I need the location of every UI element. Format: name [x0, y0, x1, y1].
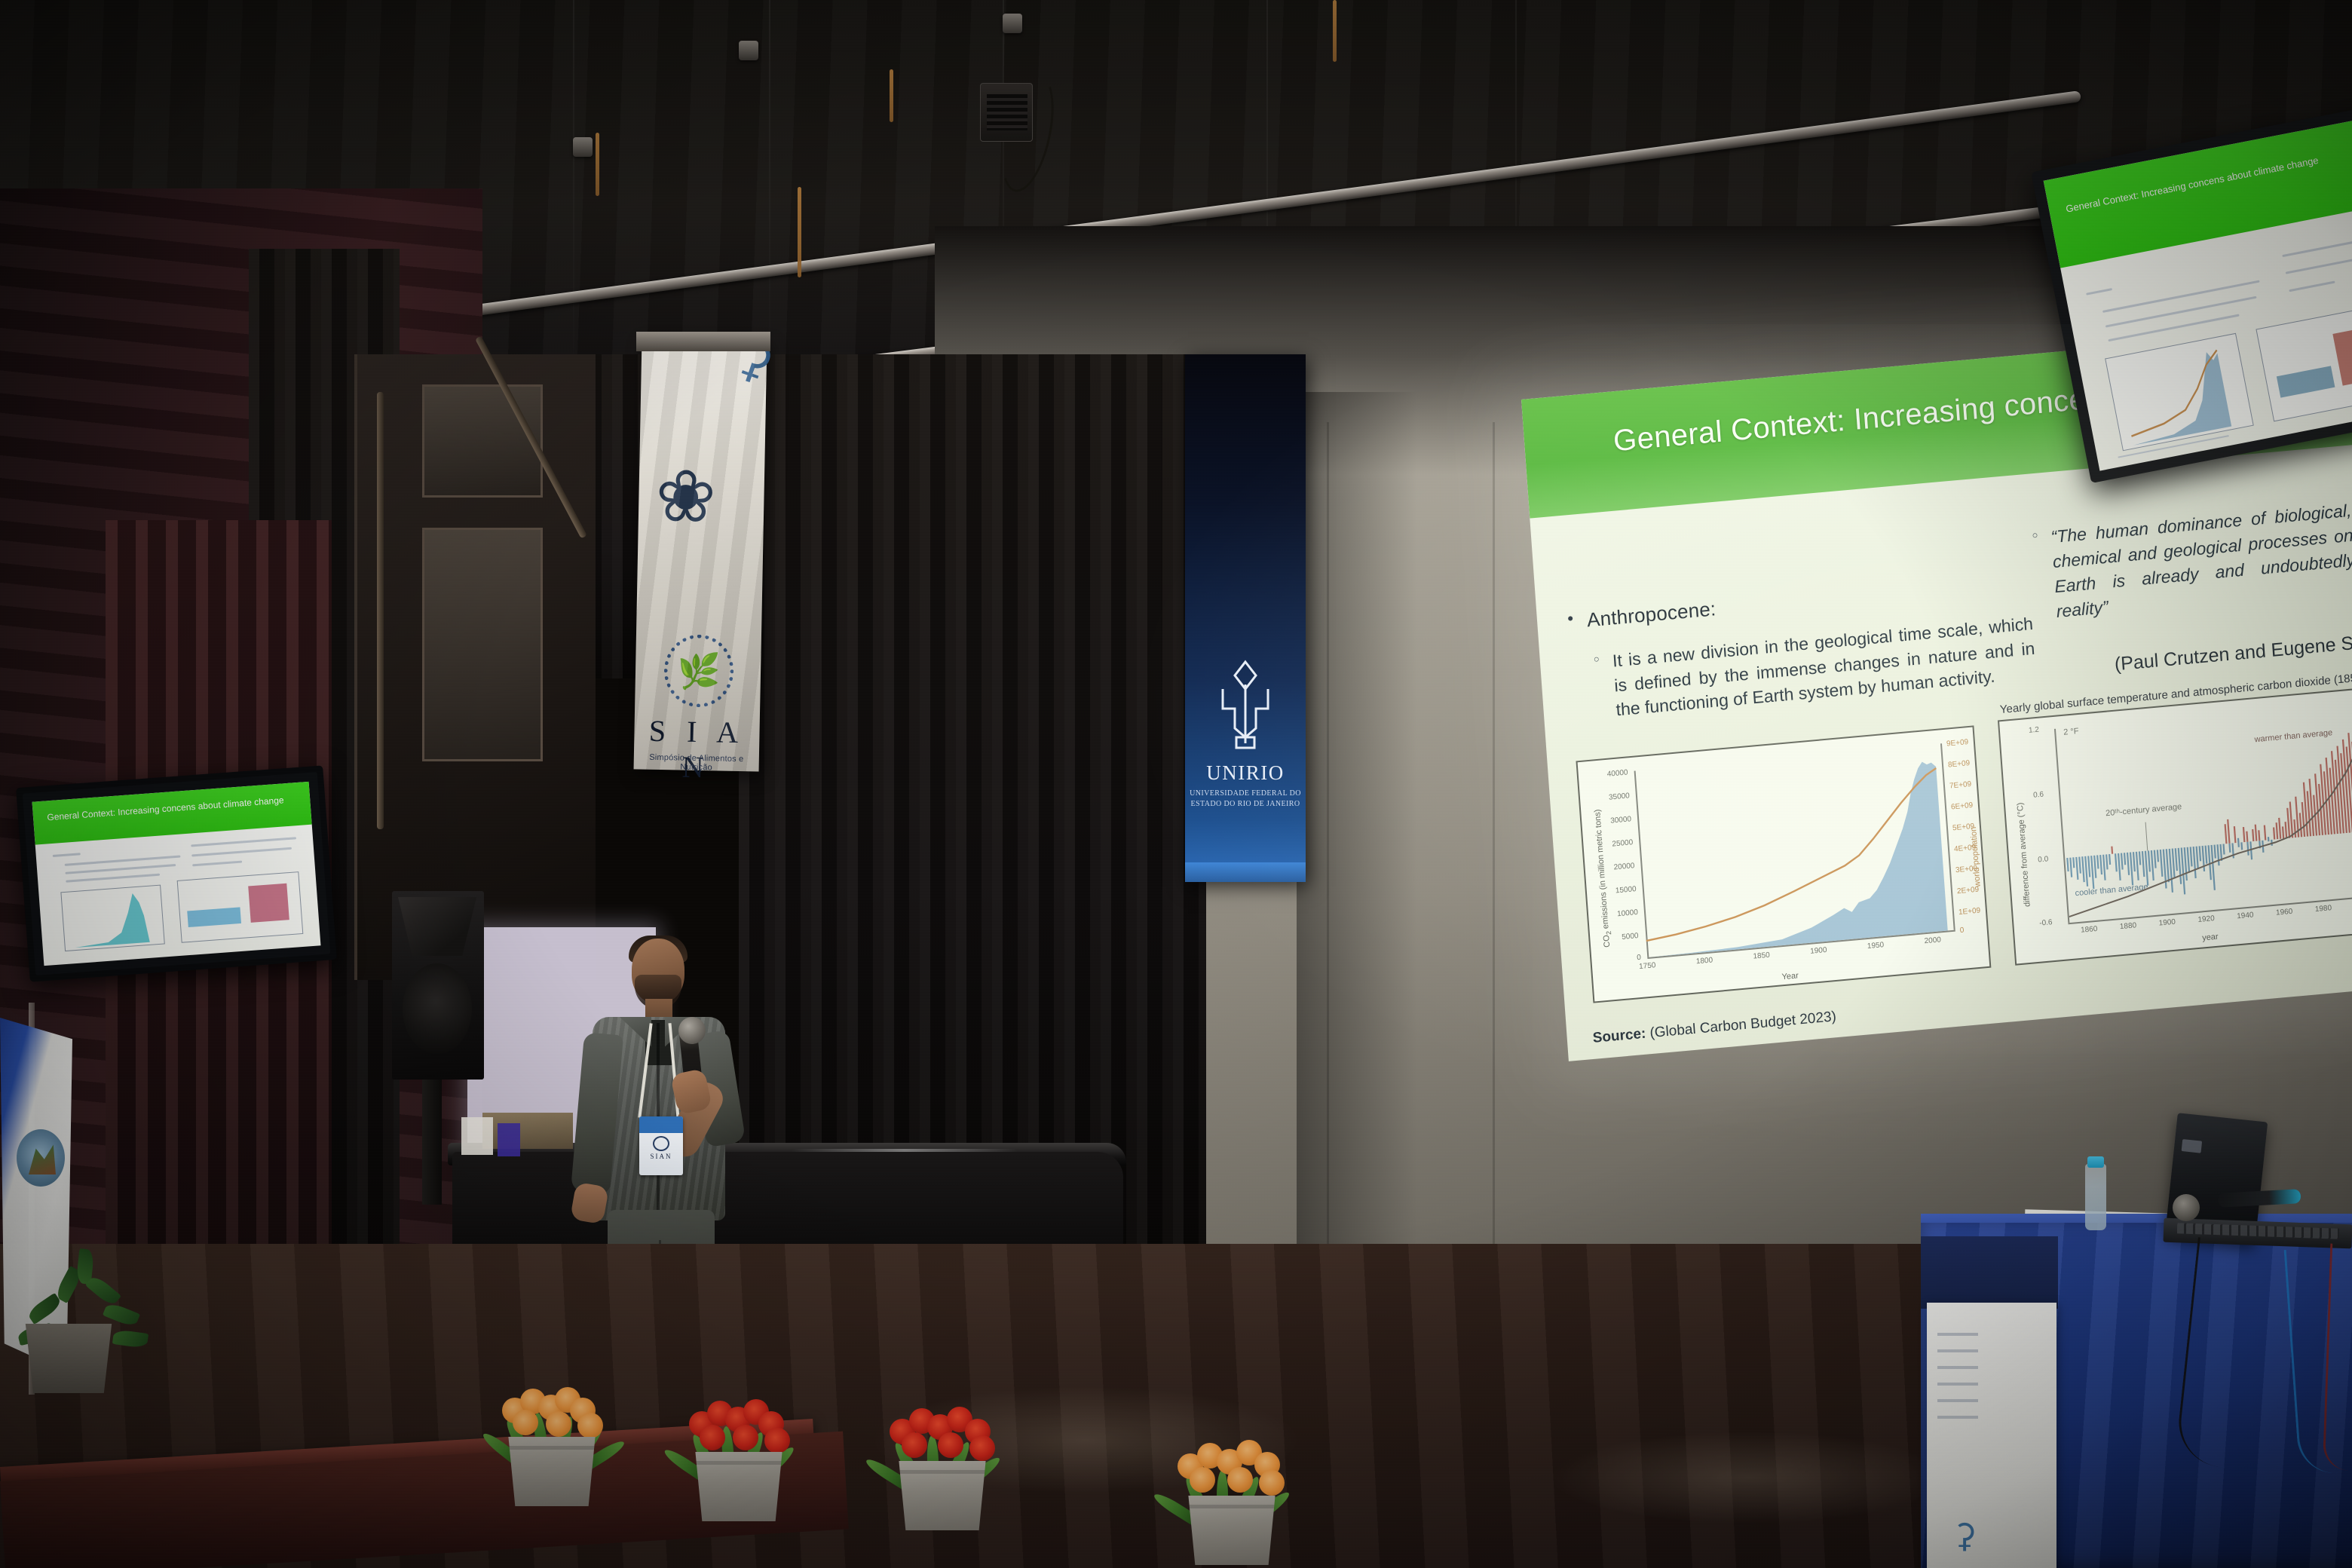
chart-plot-area — [1634, 743, 1955, 957]
chart-co2-emissions: CO2 emissions (in million metric tons) Y… — [1576, 725, 1991, 1003]
monitor-chart-left — [61, 885, 165, 951]
unirio-banner-footer — [1185, 862, 1306, 882]
stage-monitor-screen: General Context: Increasing concens abou… — [32, 782, 321, 966]
slide-quote-attribution: (Paul Crutzen and Eugene Stoermer) — [2114, 626, 2352, 676]
badge-text: SIAN — [639, 1153, 683, 1160]
truss-clamp — [573, 137, 593, 157]
conference-badge: SIAN — [639, 1116, 683, 1175]
flower-planter — [1184, 1496, 1280, 1565]
truss-rope — [596, 133, 599, 196]
monitor-chart-right — [177, 871, 304, 942]
wall-pipe — [377, 392, 384, 829]
slide-bullet-anthropocene: Anthropocene: — [1586, 597, 1717, 632]
unirio-wordmark: UNIRIO — [1185, 761, 1306, 785]
bottle-cap — [2087, 1156, 2104, 1168]
flower-arrangement — [677, 1399, 813, 1527]
chart-ylabel: difference from average (°C) — [2016, 802, 2032, 907]
speaker-stand — [422, 1076, 442, 1205]
dna-helix-icon: ⚳ — [1952, 1520, 2028, 1565]
slide-quote: “The human dominance of biological, chem… — [2050, 498, 2352, 625]
truss-rope — [1333, 0, 1337, 62]
flower-arrangement — [1167, 1437, 1310, 1568]
badge-header-strip — [639, 1116, 683, 1133]
plant-pot — [20, 1324, 118, 1393]
sian-crest-icon: 🌿 — [663, 634, 734, 708]
sian-subtitle: Simpósio de Alimentos e Nutrição — [634, 752, 759, 773]
leaf-branch-icon: ❀ — [654, 461, 746, 560]
unirio-trident-icon — [1217, 659, 1274, 749]
chart-xlabel: Year — [1781, 971, 1799, 982]
sian-wordmark: S I A N — [633, 712, 760, 786]
flower-planter — [894, 1461, 991, 1530]
slide-source-label: Source: — [1592, 1026, 1646, 1046]
confidence-monitor-screen: General Context: Increasing concens abou… — [2044, 117, 2352, 470]
truss-clamp — [739, 41, 758, 60]
chart-xlabel: year — [2202, 933, 2219, 943]
piano-top-objects — [482, 1113, 573, 1149]
flower-planter — [504, 1437, 600, 1506]
chart-plot-area — [2056, 700, 2352, 923]
stage-potted-plant — [14, 1238, 157, 1404]
table-sian-banner: ⚳ — [1927, 1303, 2056, 1568]
unirio-subtitle: UNIVERSIDADE FEDERAL DOESTADO DO RIO DE … — [1185, 789, 1306, 809]
truss-rope — [890, 69, 893, 122]
stage-confidence-monitor: General Context: Increasing concens abou… — [16, 765, 337, 982]
piano-top-folder — [498, 1123, 520, 1156]
monitor-bezel: General Context: Increasing concens abou… — [23, 772, 331, 975]
backstage-window — [422, 528, 543, 761]
chart-y2label: world population — [1969, 826, 1983, 887]
desk-microphone — [2173, 1194, 2200, 1221]
flag-coat-of-arms — [17, 1129, 65, 1187]
flower-planter — [691, 1452, 787, 1521]
water-bottle — [2085, 1164, 2106, 1230]
monitor-chart-right — [2256, 304, 2352, 422]
badge-crest-icon — [653, 1136, 669, 1151]
flower-arrangement — [495, 1387, 623, 1508]
auditorium-photo: ⚳ ❀ 🌿 S I A N Simpósio de Alimentos e Nu… — [0, 0, 2352, 1568]
banner-pole — [636, 332, 770, 351]
monitor-chart-left — [2105, 333, 2253, 452]
sian-banner: ⚳ ❀ 🌿 S I A N Simpósio de Alimentos e Nu… — [634, 339, 767, 771]
speaker-cone — [403, 963, 472, 1054]
stage-curtain-center — [739, 354, 1206, 1244]
table-cloth-corner — [1921, 1236, 2058, 1309]
slide-subbullet-definition: It is a new division in the geological t… — [1612, 611, 2038, 723]
chart-ylabel: CO2 emissions (in million metric tons) — [1593, 809, 1613, 948]
banner-text-marks — [1937, 1333, 1978, 1423]
chart-global-temperature: difference from average (°C) year 1.2 0.… — [1998, 685, 2352, 965]
slide-source-value: (Global Carbon Budget 2023) — [1649, 1009, 1837, 1041]
truss-clamp — [1003, 14, 1022, 33]
flower-arrangement — [880, 1405, 1016, 1533]
speaker-horn — [398, 897, 476, 956]
slide-body: Anthropocene: It is a new division in th… — [1530, 443, 2352, 1061]
piano-top-paper — [461, 1117, 493, 1155]
backstage-window — [422, 384, 543, 498]
truss-rope — [798, 187, 801, 277]
unirio-banner: UNIRIO UNIVERSIDADE FEDERAL DOESTADO DO … — [1185, 354, 1306, 882]
pa-loudspeaker — [392, 891, 484, 1080]
